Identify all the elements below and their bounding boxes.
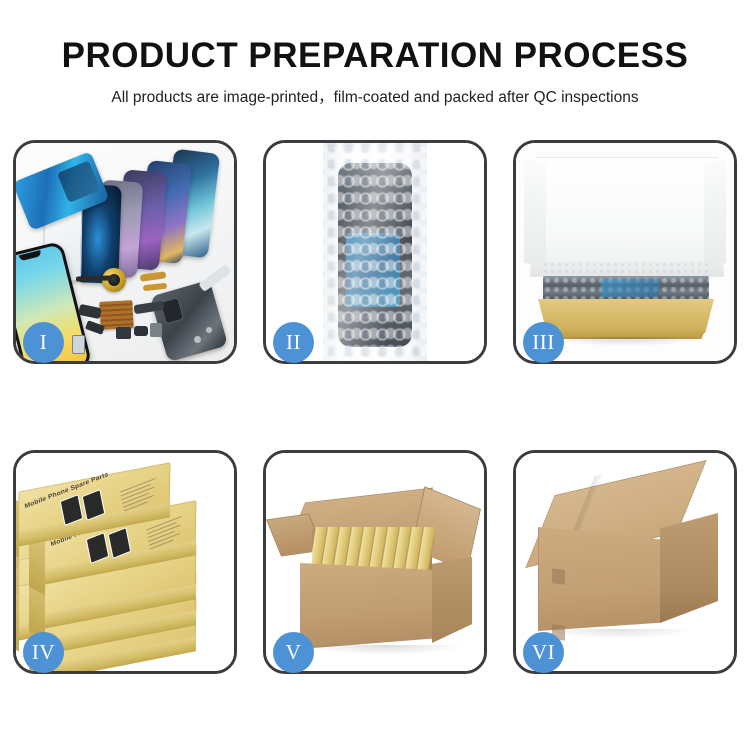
battery-part	[72, 335, 85, 354]
page-title: PRODUCT PREPARATION PROCESS	[0, 0, 750, 76]
bubble-wrapped-contents	[543, 276, 709, 302]
box-flap-right	[704, 159, 726, 267]
process-step-grid: I II	[13, 140, 737, 674]
small-module-part-d	[116, 327, 131, 339]
step-badge-1: I	[23, 322, 64, 363]
page-header: PRODUCT PREPARATION PROCESS All products…	[0, 0, 750, 107]
step-badge-3: III	[523, 322, 564, 363]
screw-part-a	[194, 336, 201, 343]
step-badge-6: VI	[523, 632, 564, 673]
process-step-panel-2: II	[263, 140, 487, 364]
step-badge-4: IV	[23, 632, 64, 673]
page-subtitle: All products are image-printed，film-coat…	[0, 76, 750, 107]
box-flap-left	[524, 159, 546, 267]
drop-shadow	[546, 337, 706, 346]
kraft-box-tray	[538, 299, 714, 333]
process-step-panel-3: III	[513, 140, 737, 364]
process-step-panel-5: V	[263, 450, 487, 674]
camera-module-part	[150, 323, 162, 337]
box-lid-open	[530, 157, 724, 277]
carton-handle-notch-top	[552, 568, 565, 584]
screw-part-b	[206, 327, 212, 333]
carton-front-face	[300, 563, 432, 649]
connector-chip-part	[99, 300, 133, 330]
process-step-panel-1: I	[13, 140, 237, 364]
drop-shadow	[306, 645, 466, 655]
small-module-part-e	[134, 326, 148, 336]
drop-shadow	[544, 629, 694, 639]
step-badge-5: V	[273, 632, 314, 673]
step-badge-2: II	[273, 322, 314, 363]
process-step-panel-6: VI	[513, 450, 737, 674]
process-step-panel-4: Mobile Phone Spare Parts Mobile Phone Sp…	[13, 450, 237, 674]
